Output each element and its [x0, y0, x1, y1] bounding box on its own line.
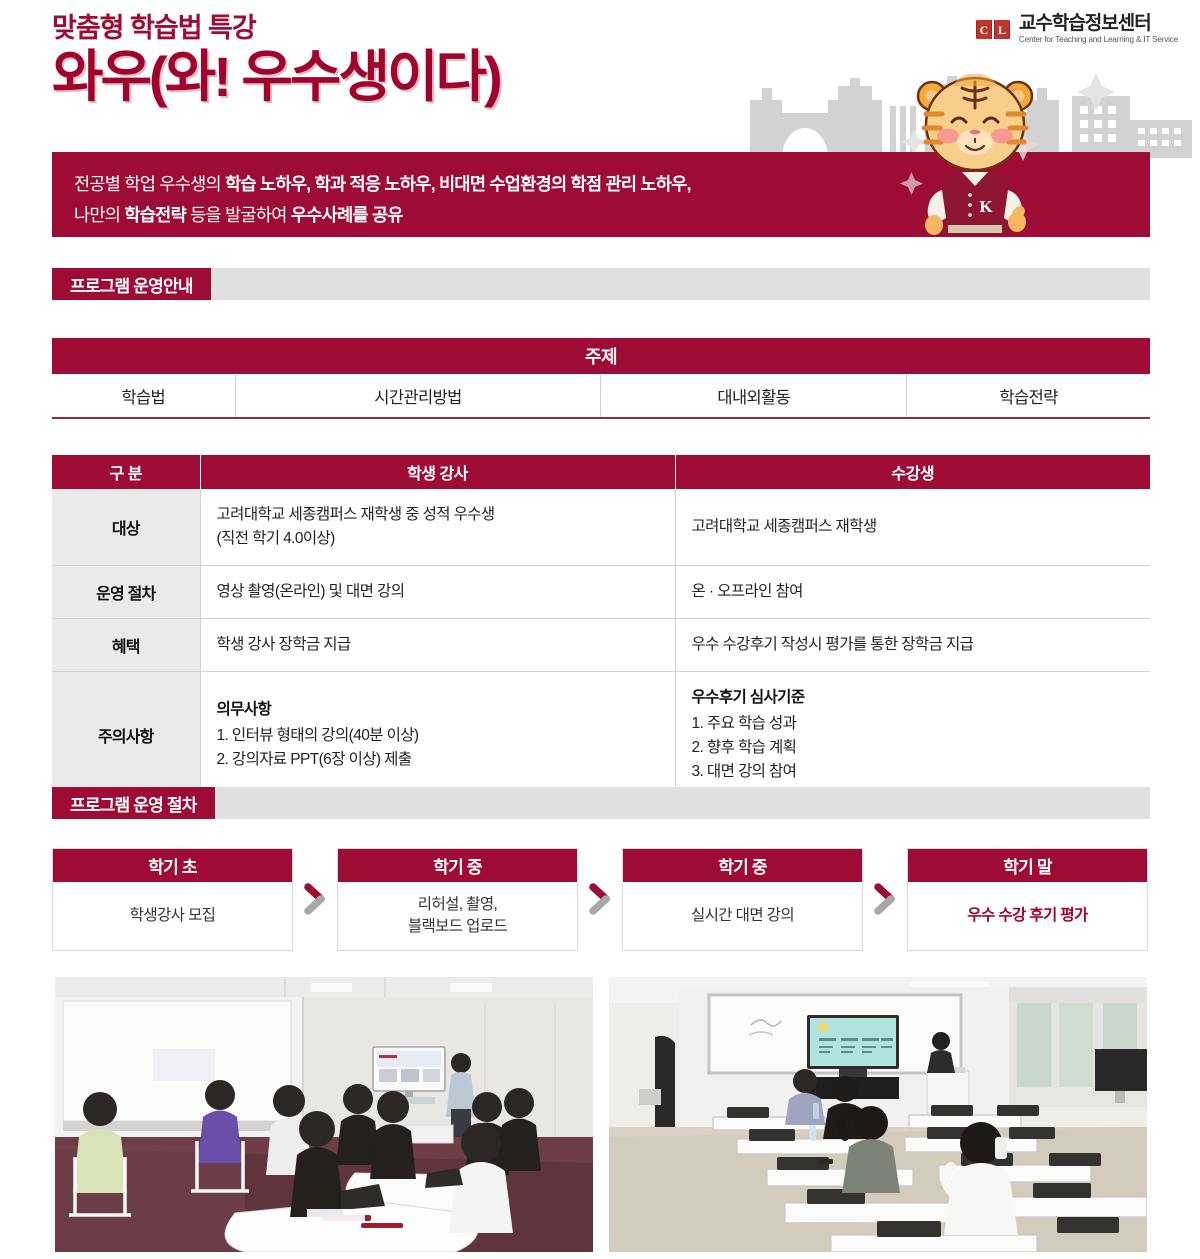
intro-text-1a: 전공별 학업 우수생의 — [74, 174, 225, 194]
tiger-mascot-icon: K — [900, 62, 1050, 242]
flow-step-3-body: 실시간 대면 강의 — [623, 882, 862, 950]
row-instructor-benefit: 학생 강사 장학금 지급 — [200, 619, 675, 672]
row-student-benefit: 우수 수강후기 작성시 평가를 통한 장학금 지급 — [675, 619, 1150, 672]
text-line: 블랙보드 업로드 — [408, 916, 507, 938]
topic-cell-3: 대내외활동 — [601, 374, 907, 418]
flow-step-4: 학기 말 우수 수강 후기 평가 — [907, 848, 1148, 951]
topic-cell-4: 학습전략 — [907, 374, 1150, 418]
flow-step-2-header: 학기 중 — [338, 849, 577, 882]
open-book-logo-icon: C L — [975, 14, 1011, 44]
row-instructor-target: 고려대학교 세종캠퍼스 재학생 중 성적 우수생 (직전 학기 4.0이상) — [200, 489, 675, 566]
row-label-procedure: 운영 절차 — [52, 566, 200, 619]
topic-table-header: 주제 — [52, 338, 1150, 374]
flow-step-3: 학기 중 실시간 대면 강의 — [622, 848, 863, 951]
topic-table: 주제 학습법 시간관리방법 대내외활동 학습전략 — [52, 338, 1150, 419]
ctl-logo: C L 교수학습정보센터 Center for Teaching and Lea… — [975, 14, 1178, 45]
text-line: 학생 강사 장학금 지급 — [217, 633, 675, 657]
topic-table-header-row: 주제 — [52, 338, 1150, 374]
topic-table-row: 학습법 시간관리방법 대내외활동 학습전략 — [52, 374, 1150, 418]
intro-text-1b: 학습 노하우, 학과 적응 노하우, 비대면 수업환경의 학점 관리 노하우, — [225, 174, 691, 194]
row-student-target: 고려대학교 세종캠퍼스 재학생 — [675, 489, 1150, 566]
row-label-benefit: 혜택 — [52, 619, 200, 672]
notice-subtitle-instructor: 의무사항 — [217, 698, 675, 722]
column-header-category: 구 분 — [52, 455, 200, 489]
row-student-procedure: 온 · 오프라인 참여 — [675, 566, 1150, 619]
table-row: 대상 고려대학교 세종캠퍼스 재학생 중 성적 우수생 (직전 학기 4.0이상… — [52, 489, 1150, 566]
intro-text-2c: 등을 발굴하여 — [190, 205, 291, 225]
poster-title: 와우(와! 우수생이다) — [52, 46, 500, 109]
text-line: 리허설, 촬영, — [418, 894, 497, 916]
table-row: 혜택 학생 강사 장학금 지급 우수 수강후기 작성시 평가를 통한 장학금 지… — [52, 619, 1150, 672]
flow-arrow-1 — [293, 848, 337, 949]
poster-root: 맞춤형 학습법 특강 와우(와! 우수생이다) C L 교수학습정보센터 Cen… — [0, 0, 1200, 1259]
column-header-student: 수강생 — [675, 455, 1150, 489]
svg-text:K: K — [979, 197, 993, 216]
intro-text-2a: 나만의 — [74, 205, 124, 225]
logo-name-korean: 교수학습정보센터 — [1019, 14, 1178, 34]
logo-name-english: Center for Teaching and Learning & IT Se… — [1019, 36, 1178, 45]
logo-text-wrap: 교수학습정보센터 Center for Teaching and Learnin… — [1019, 14, 1178, 45]
column-header-instructor: 학생 강사 — [200, 455, 675, 489]
row-student-notice: 우수후기 심사기준 1. 주요 학습 성과 2. 향후 학습 계획 3. 대면 … — [675, 672, 1150, 800]
table-row: 주의사항 의무사항 1. 인터뷰 형태의 강의(40분 이상) 2. 강의자료 … — [52, 672, 1150, 800]
chevron-right-icon — [872, 882, 898, 916]
process-flow: 학기 초 학생강사 모집 학기 중 리허설, 촬영, 블랙보드 업로드 학기 중 — [52, 848, 1150, 951]
row-label-target: 대상 — [52, 489, 200, 566]
photo-classroom — [609, 977, 1147, 1252]
poster-header: 맞춤형 학습법 특강 와우(와! 우수생이다) C L 교수학습정보센터 Cen… — [0, 0, 1200, 255]
flow-step-1-body: 학생강사 모집 — [53, 882, 292, 950]
topic-cell-1: 학습법 — [52, 374, 235, 418]
text-line: 고려대학교 세종캠퍼스 재학생 — [692, 515, 1151, 539]
flow-step-4-body: 우수 수강 후기 평가 — [908, 882, 1147, 950]
flow-step-3-header: 학기 중 — [623, 849, 862, 882]
flow-step-1-header: 학기 초 — [53, 849, 292, 882]
text-line: 고려대학교 세종캠퍼스 재학생 중 성적 우수생 — [217, 503, 675, 527]
text-line: 1. 인터뷰 형태의 강의(40분 이상) — [217, 724, 675, 748]
text-line: 2. 강의자료 PPT(6장 이상) 제출 — [217, 748, 675, 772]
program-comparison-table: 구 분 학생 강사 수강생 대상 고려대학교 세종캠퍼스 재학생 중 성적 우수… — [52, 455, 1150, 801]
photo-classroom-image — [609, 977, 1147, 1252]
flow-arrow-2 — [578, 848, 622, 949]
topic-cell-2: 시간관리방법 — [235, 374, 601, 418]
flow-step-4-header: 학기 말 — [908, 849, 1147, 882]
section-label-program-process: 프로그램 운영 절차 — [52, 787, 215, 819]
intro-text-2d: 우수사례를 공유 — [291, 205, 403, 225]
text-line: (직전 학기 4.0이상) — [217, 527, 675, 551]
text-line: 영상 촬영(온라인) 및 대면 강의 — [217, 580, 675, 604]
row-instructor-notice: 의무사항 1. 인터뷰 형태의 강의(40분 이상) 2. 강의자료 PPT(6… — [200, 672, 675, 800]
poster-subtitle: 맞춤형 학습법 특강 — [52, 12, 500, 44]
section-bar-program-process: 프로그램 운영 절차 — [52, 787, 1150, 819]
comparison-header-row: 구 분 학생 강사 수강생 — [52, 455, 1150, 489]
photo-gallery — [55, 977, 1147, 1252]
flow-step-2: 학기 중 리허설, 촬영, 블랙보드 업로드 — [337, 848, 578, 951]
table-row: 운영 절차 영상 촬영(온라인) 및 대면 강의 온 · 오프라인 참여 — [52, 566, 1150, 619]
text-line: 우수 수강후기 작성시 평가를 통한 장학금 지급 — [692, 633, 1151, 657]
flow-arrow-3 — [863, 848, 907, 949]
notice-subtitle-student: 우수후기 심사기준 — [692, 686, 1151, 710]
chevron-right-icon — [587, 882, 613, 916]
text-line: 3. 대면 강의 참여 — [692, 760, 1151, 784]
flow-step-1: 학기 초 학생강사 모집 — [52, 848, 293, 951]
row-instructor-procedure: 영상 촬영(온라인) 및 대면 강의 — [200, 566, 675, 619]
flow-step-2-body: 리허설, 촬영, 블랙보드 업로드 — [338, 882, 577, 950]
svg-text:L: L — [998, 23, 1006, 37]
photo-seminar-room-image — [55, 977, 593, 1252]
intro-text-2b: 학습전략 — [124, 205, 190, 225]
title-block: 맞춤형 학습법 특강 와우(와! 우수생이다) — [52, 12, 500, 109]
svg-text:C: C — [980, 23, 989, 37]
section-label-program-info: 프로그램 운영안내 — [52, 268, 211, 300]
text-line: 온 · 오프라인 참여 — [692, 580, 1151, 604]
row-label-notice: 주의사항 — [52, 672, 200, 800]
text-line: 1. 주요 학습 성과 — [692, 712, 1151, 736]
photo-seminar-room — [55, 977, 593, 1252]
text-line: 2. 향후 학습 계획 — [692, 736, 1151, 760]
section-bar-program-info: 프로그램 운영안내 — [52, 268, 1150, 300]
chevron-right-icon — [302, 882, 328, 916]
